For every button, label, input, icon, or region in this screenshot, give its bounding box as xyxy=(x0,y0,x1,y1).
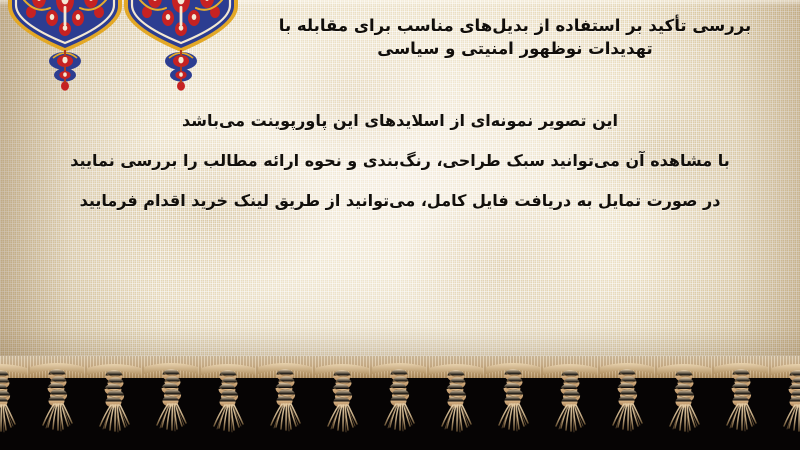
slide-body-text: این تصویر نمونه‌ای از اسلایدهای این پاور… xyxy=(18,113,782,209)
slide-title: بررسی تأکید بر استفاده از بدیل‌های مناسب… xyxy=(240,14,790,61)
slide-canvas: بررسی تأکید بر استفاده از بدیل‌های مناسب… xyxy=(0,0,800,450)
body-line-purchase-link: در صورت تمایل به دریافت فایل کامل، می‌تو… xyxy=(18,193,782,209)
body-line-design-review: با مشاهده آن می‌توانید سبک طراحی، رنگ‌بن… xyxy=(18,153,782,169)
body-line-sample-notice: این تصویر نمونه‌ای از اسلایدهای این پاور… xyxy=(18,113,782,129)
fringe-tassels-svg xyxy=(0,356,800,450)
slide-title-line-2: تهدیدات نوظهور امنیتی و سیاسی xyxy=(240,37,790,60)
carpet-knotted-fringe xyxy=(0,356,800,450)
slide-text-layer: بررسی تأکید بر استفاده از بدیل‌های مناسب… xyxy=(0,0,800,372)
slide-title-line-1: بررسی تأکید بر استفاده از بدیل‌های مناسب… xyxy=(240,14,790,37)
